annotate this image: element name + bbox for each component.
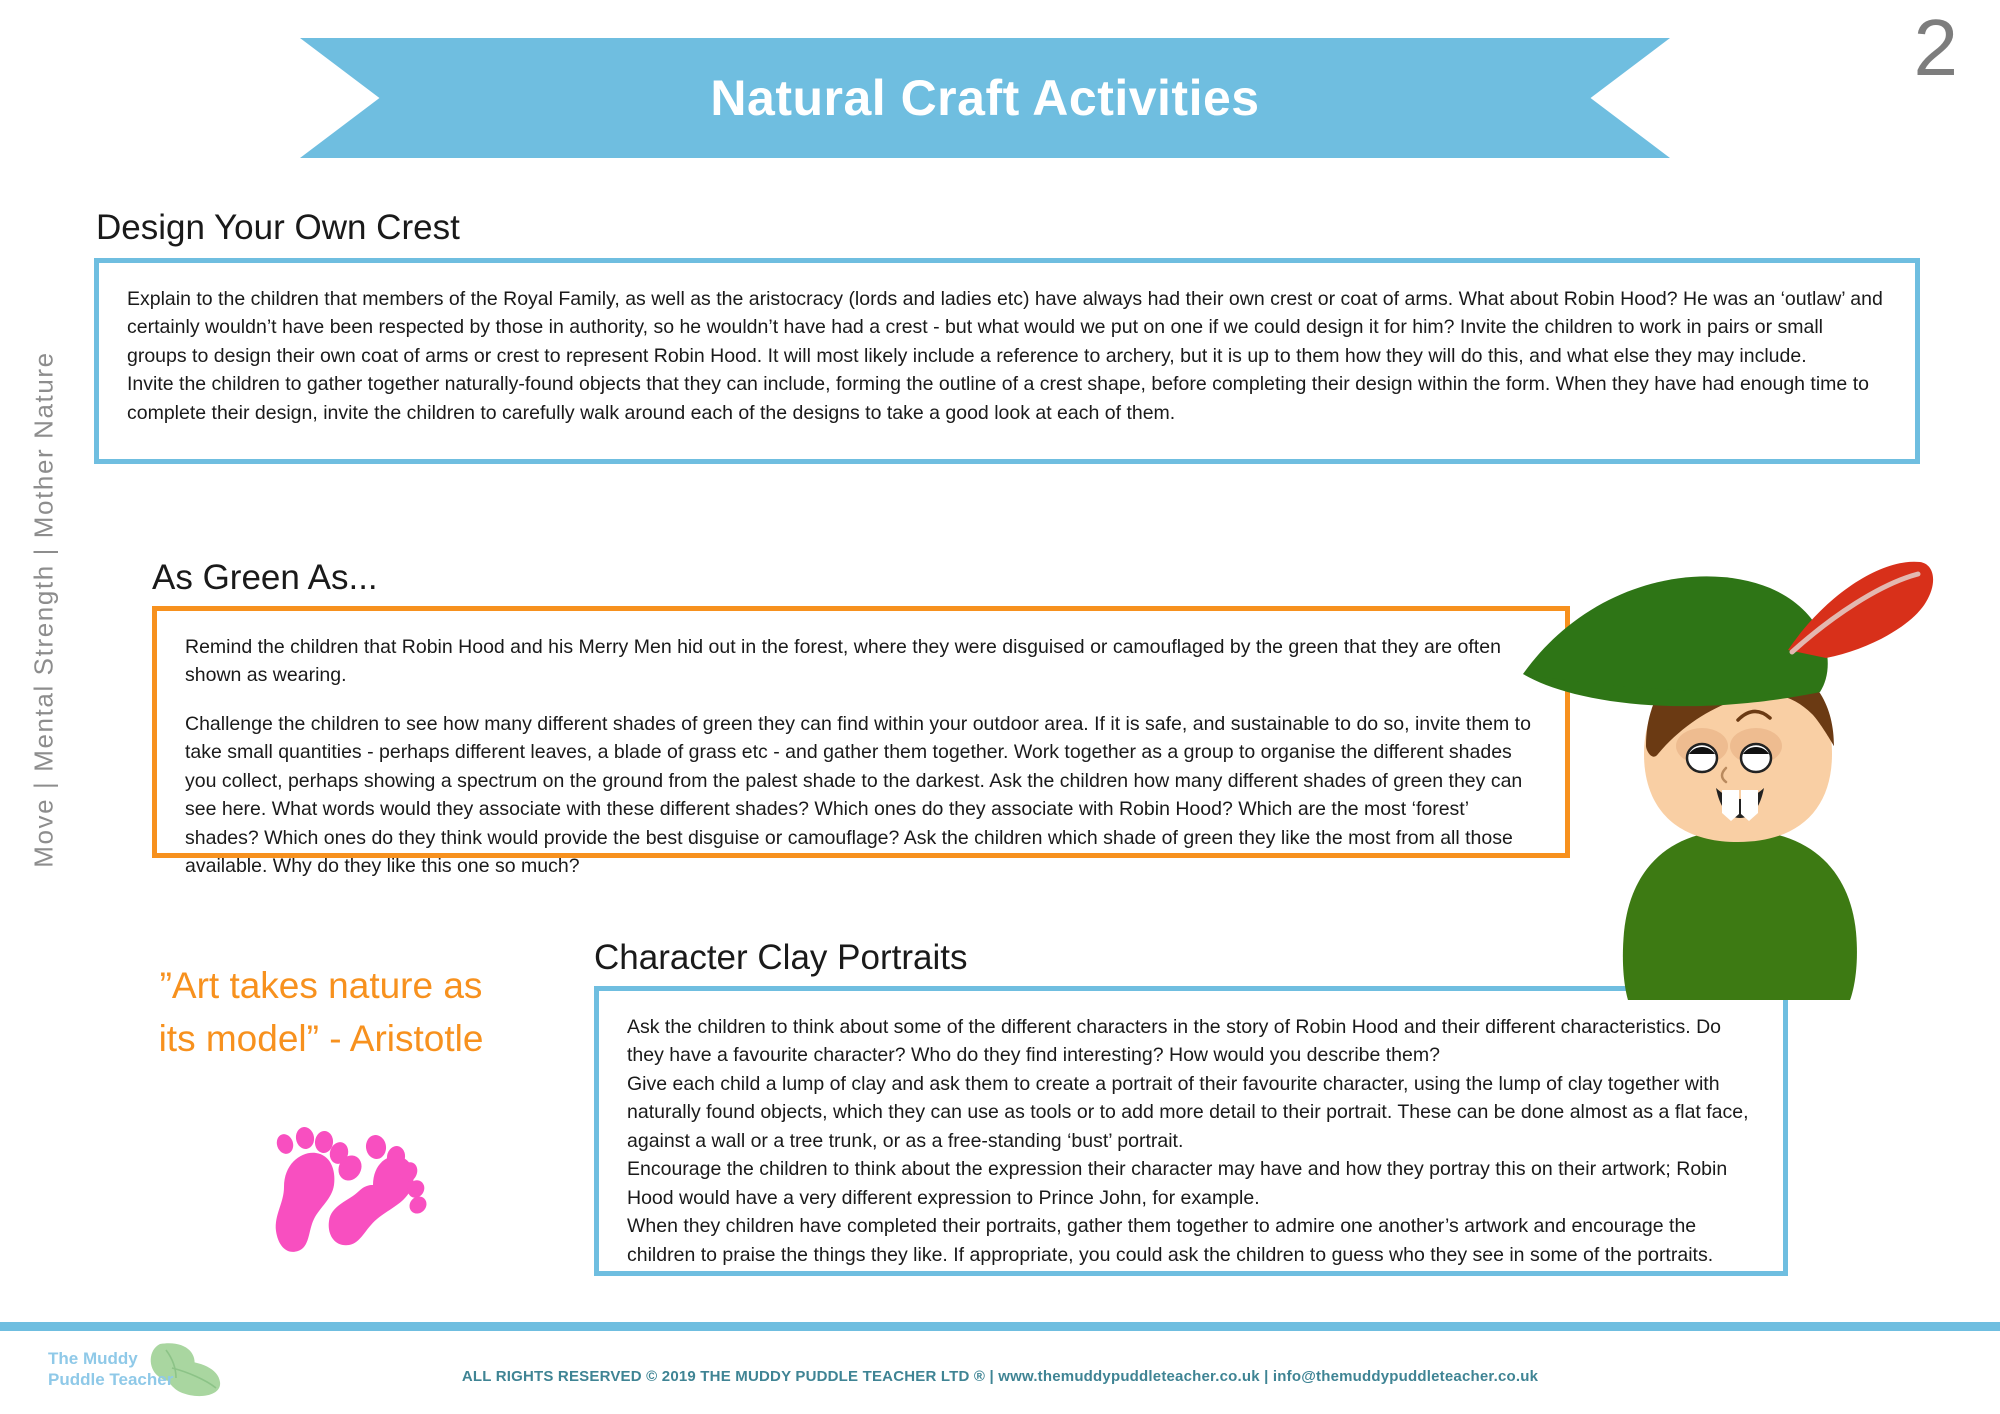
- section-heading-as-green-as: As Green As...: [152, 558, 378, 598]
- paragraph: Ask the children to think about some of …: [627, 1013, 1755, 1070]
- paragraph: Challenge the children to see how many d…: [185, 710, 1537, 881]
- section-box-as-green-as: Remind the children that Robin Hood and …: [152, 606, 1570, 858]
- robin-hood-character-illustration: [1520, 540, 1940, 1000]
- page-number: 2: [1914, 8, 1959, 88]
- paragraph: When they children have completed their …: [627, 1212, 1755, 1269]
- quote-line-1: ”Art takes nature as: [106, 960, 536, 1013]
- side-strap-label: Move | Mental Strength | Mother Nature: [29, 280, 60, 940]
- paragraph: Remind the children that Robin Hood and …: [185, 633, 1537, 690]
- footprints-icon: [258, 1095, 438, 1275]
- paragraph: Give each child a lump of clay and ask t…: [627, 1070, 1755, 1155]
- paragraph-spacer: [185, 690, 1537, 710]
- paragraph: Explain to the children that members of …: [127, 285, 1887, 370]
- header-banner: Natural Craft Activities: [300, 38, 1670, 158]
- aristotle-quote: ”Art takes nature as its model” - Aristo…: [106, 960, 536, 1065]
- character-body: [1623, 830, 1857, 1000]
- quote-line-2: its model” - Aristotle: [106, 1013, 536, 1066]
- footer-copyright: ALL RIGHTS RESERVED © 2019 THE MUDDY PUD…: [0, 1368, 2000, 1385]
- section-heading-design-your-own-crest: Design Your Own Crest: [96, 208, 460, 248]
- paragraph: Invite the children to gather together n…: [127, 370, 1887, 427]
- section-box-design-your-own-crest: Explain to the children that members of …: [94, 258, 1920, 464]
- banner-ribbon: Natural Craft Activities: [300, 38, 1670, 158]
- worksheet-page: Natural Craft Activities 2 Move | Mental…: [0, 0, 2000, 1414]
- paragraph: Encourage the children to think about th…: [627, 1155, 1755, 1212]
- section-heading-character-clay-portraits: Character Clay Portraits: [594, 938, 967, 978]
- footer-divider: [0, 1322, 2000, 1331]
- page-title: Natural Craft Activities: [710, 69, 1259, 127]
- section-box-character-clay-portraits: Ask the children to think about some of …: [594, 986, 1788, 1276]
- character-hat: [1523, 576, 1828, 706]
- character-feather: [1788, 562, 1933, 658]
- logo-line-1: The Muddy: [48, 1348, 173, 1369]
